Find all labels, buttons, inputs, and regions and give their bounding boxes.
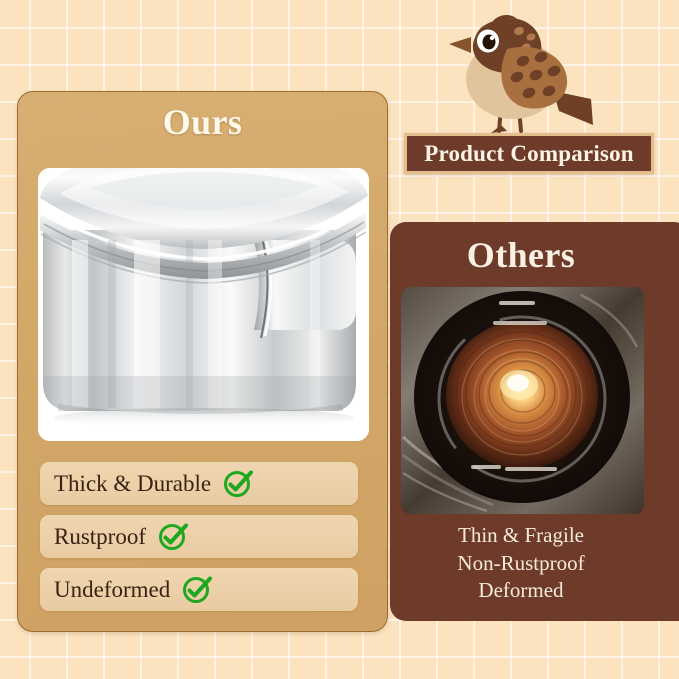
product-comparison-infographic: Product Comparison Others — [0, 0, 679, 679]
feature-label: Undeformed — [40, 577, 170, 603]
others-product-photo — [401, 287, 644, 514]
feature-row: Undeformed — [40, 568, 358, 611]
others-panel-title: Others — [390, 234, 652, 276]
others-panel: Others — [390, 222, 679, 621]
feature-row: Thick & Durable — [40, 462, 358, 505]
green-check-icon — [182, 574, 212, 604]
sparrow-bird-icon — [441, 13, 601, 138]
product-comparison-banner: Product Comparison — [404, 133, 654, 174]
others-drawback-item: Non-Rustproof — [390, 550, 652, 578]
feature-label: Thick & Durable — [40, 471, 211, 497]
others-drawback-item: Thin & Fragile — [390, 522, 652, 550]
green-check-icon — [158, 521, 188, 551]
ours-panel: Ours — [17, 91, 388, 632]
others-drawback-item: Deformed — [390, 577, 652, 605]
feature-row: Rustproof — [40, 515, 358, 558]
banner-title: Product Comparison — [424, 141, 634, 167]
ours-product-photo — [38, 168, 369, 441]
feature-label: Rustproof — [40, 524, 146, 550]
ours-panel-title: Ours — [18, 101, 387, 143]
ours-feature-list: Thick & Durable Rustproof — [40, 462, 358, 621]
others-drawback-list: Thin & Fragile Non-Rustproof Deformed — [390, 522, 652, 605]
green-check-icon — [223, 468, 253, 498]
